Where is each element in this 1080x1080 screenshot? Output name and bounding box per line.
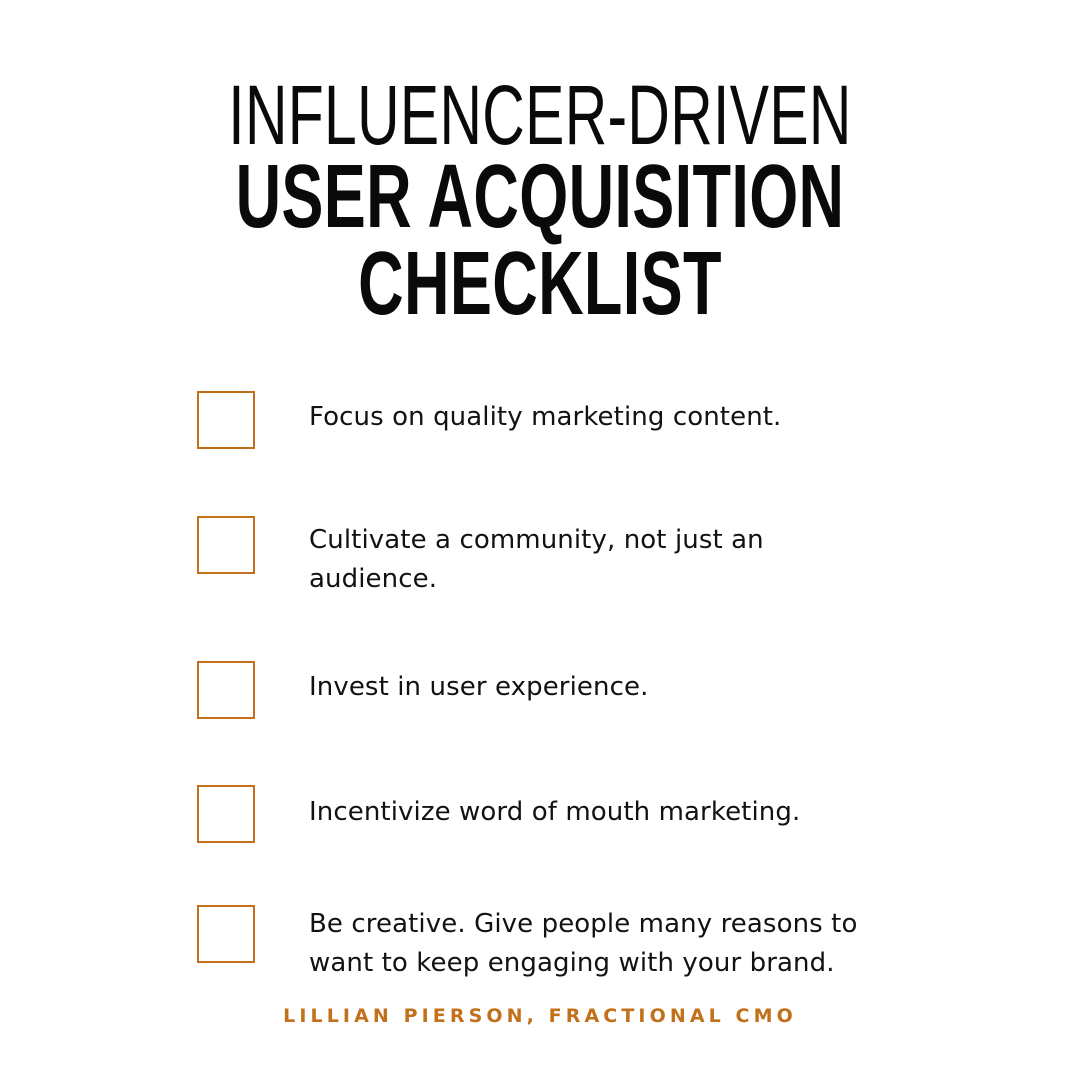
author-credit: LILLIAN PIERSON, FRACTIONAL CMO <box>283 1005 797 1027</box>
title-line-2: USER ACQUISITION <box>162 153 918 242</box>
list-item[interactable]: Invest in user experience. <box>197 652 957 719</box>
checklist-poster: INFLUENCER-DRIVEN USER ACQUISITION CHECK… <box>0 0 1080 1080</box>
footer: LILLIAN PIERSON, FRACTIONAL CMO <box>0 1005 1080 1027</box>
list-item[interactable]: Focus on quality marketing content. <box>197 382 957 449</box>
checkbox-icon[interactable] <box>197 516 255 574</box>
title-line-1: INFLUENCER-DRIVEN <box>162 74 918 157</box>
list-item-label: Focus on quality marketing content. <box>309 382 781 437</box>
page-title: INFLUENCER-DRIVEN USER ACQUISITION CHECK… <box>0 74 1080 329</box>
list-item[interactable]: Be creative. Give people many reasons to… <box>197 896 957 983</box>
title-line-3: CHECKLIST <box>162 240 918 329</box>
checkbox-icon[interactable] <box>197 661 255 719</box>
list-item-label: Cultivate a community, not just an audie… <box>309 507 887 599</box>
list-item[interactable]: Incentivize word of mouth marketing. <box>197 776 957 843</box>
list-item[interactable]: Cultivate a community, not just an audie… <box>197 507 957 599</box>
list-item-label: Invest in user experience. <box>309 652 648 707</box>
checkbox-icon[interactable] <box>197 785 255 843</box>
list-item-label: Be creative. Give people many reasons to… <box>309 896 887 983</box>
checklist: Focus on quality marketing content. Cult… <box>197 382 957 983</box>
checkbox-icon[interactable] <box>197 391 255 449</box>
checkbox-icon[interactable] <box>197 905 255 963</box>
list-item-label: Incentivize word of mouth marketing. <box>309 776 800 832</box>
